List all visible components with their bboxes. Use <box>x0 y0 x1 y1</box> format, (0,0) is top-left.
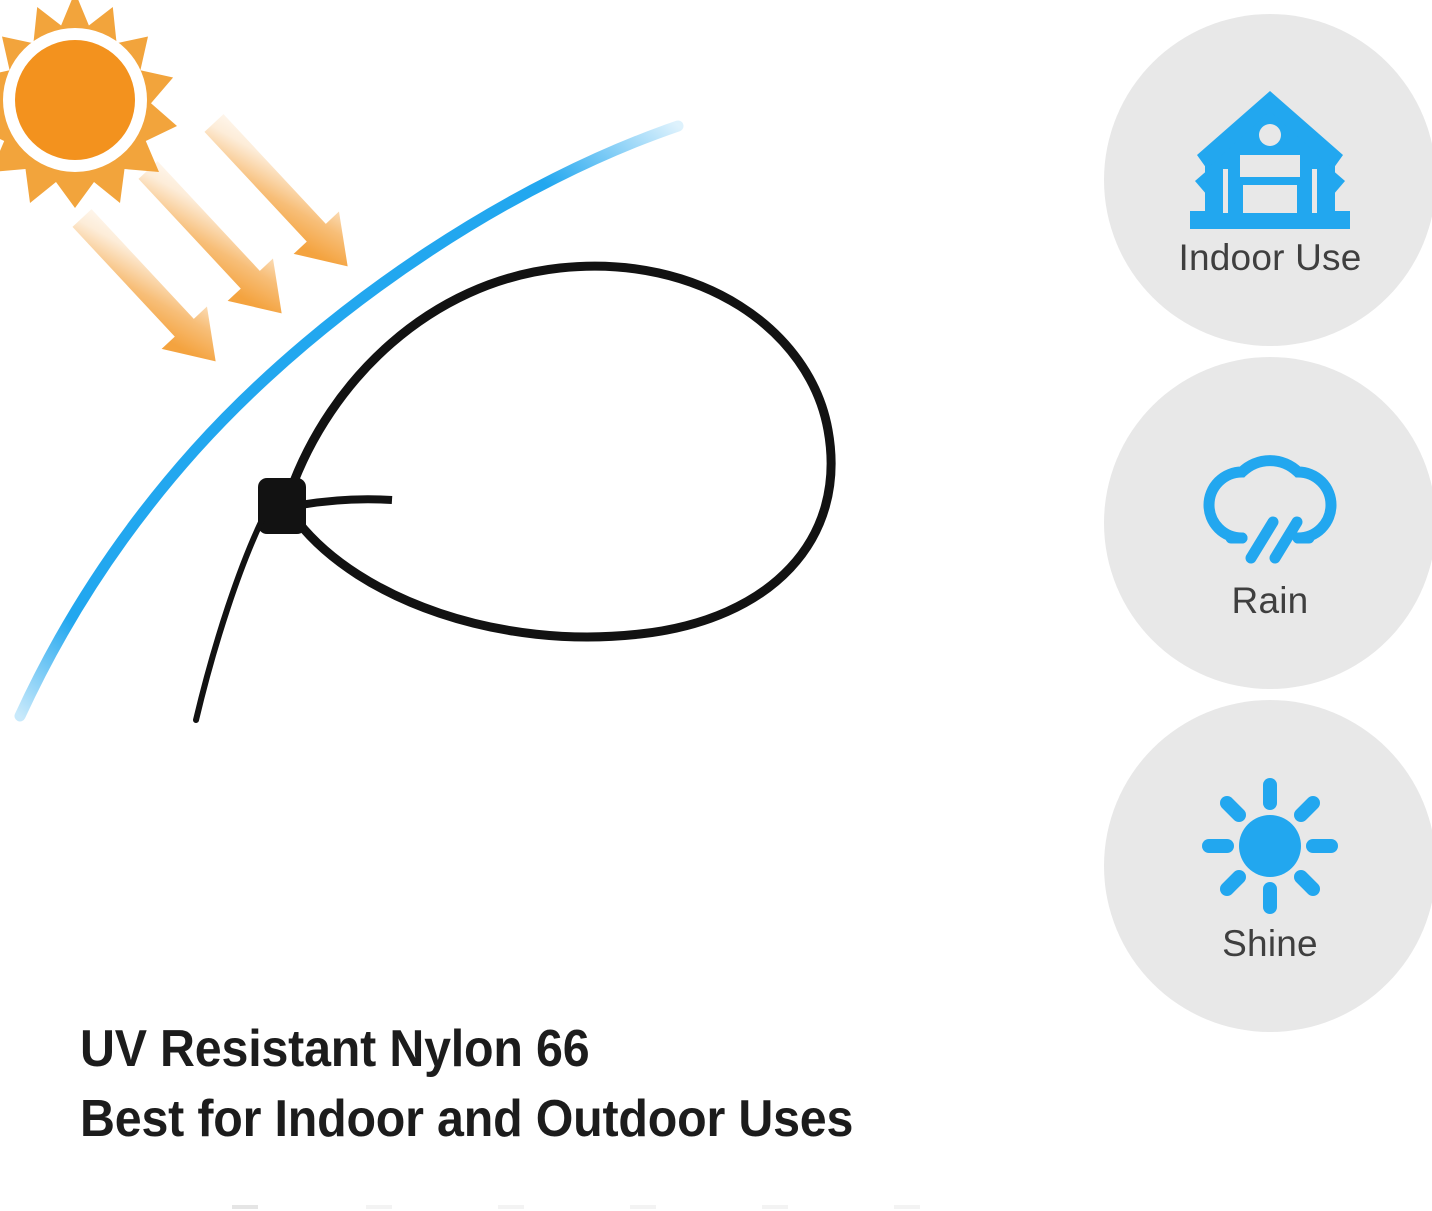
headline-line-2: Best for Indoor and Outdoor Uses <box>80 1084 973 1154</box>
cable-tie-icon <box>196 266 831 720</box>
feature-label: Rain <box>1232 582 1309 619</box>
feature-label: Indoor Use <box>1179 239 1362 276</box>
feature-badge-shine[interactable]: Shine <box>1104 700 1432 1032</box>
feature-badge-list: Indoor Use <box>1104 14 1432 1024</box>
feature-label: Shine <box>1222 925 1318 962</box>
sun-shine-icon <box>1185 771 1355 921</box>
rain-cloud-icon <box>1185 428 1355 578</box>
feature-badge-rain[interactable]: Rain <box>1104 357 1432 689</box>
clipped-bottom-row <box>0 1203 1432 1211</box>
feature-badge-indoor-use[interactable]: Indoor Use <box>1104 14 1432 346</box>
product-infographic: Indoor Use <box>0 0 1432 1211</box>
house-icon <box>1185 85 1355 235</box>
uv-protection-illustration <box>0 0 1060 960</box>
uv-shield-arc-icon <box>20 126 678 716</box>
headline-line-1: UV Resistant Nylon 66 <box>80 1014 973 1084</box>
headline-block: UV Resistant Nylon 66 Best for Indoor an… <box>80 1014 1040 1154</box>
